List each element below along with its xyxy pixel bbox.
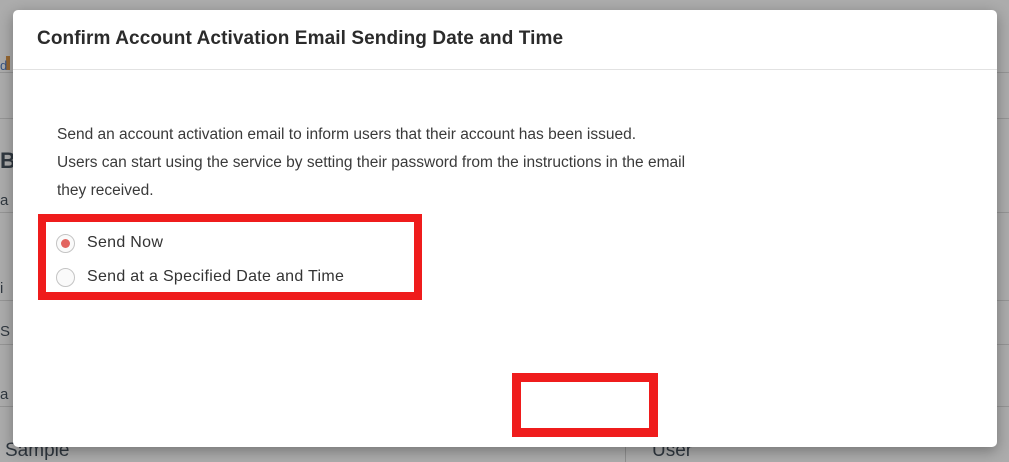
radio-option-send-now[interactable]: Send Now (56, 226, 416, 260)
description-line-3: they received. (57, 177, 947, 205)
radio-label-send-now: Send Now (87, 234, 163, 252)
confirm-send-email-modal: Confirm Account Activation Email Sending… (13, 10, 997, 447)
send-timing-radio-group: Send Now Send at a Specified Date and Ti… (56, 226, 416, 294)
modal-description: Send an account activation email to info… (57, 121, 947, 205)
radio-option-send-scheduled[interactable]: Send at a Specified Date and Time (56, 260, 416, 294)
modal-body: Send an account activation email to info… (13, 71, 997, 447)
radio-unselected-icon (56, 268, 75, 287)
radio-selected-icon (56, 234, 75, 253)
modal-title: Confirm Account Activation Email Sending… (37, 28, 563, 50)
modal-header: Confirm Account Activation Email Sending… (13, 10, 997, 70)
radio-label-send-scheduled: Send at a Specified Date and Time (87, 268, 344, 286)
description-line-2: Users can start using the service by set… (57, 149, 947, 177)
description-line-1: Send an account activation email to info… (57, 121, 947, 149)
radio-dot (61, 239, 70, 248)
screen: d Ba a i S a Sample User Confirm Account… (0, 0, 1009, 462)
